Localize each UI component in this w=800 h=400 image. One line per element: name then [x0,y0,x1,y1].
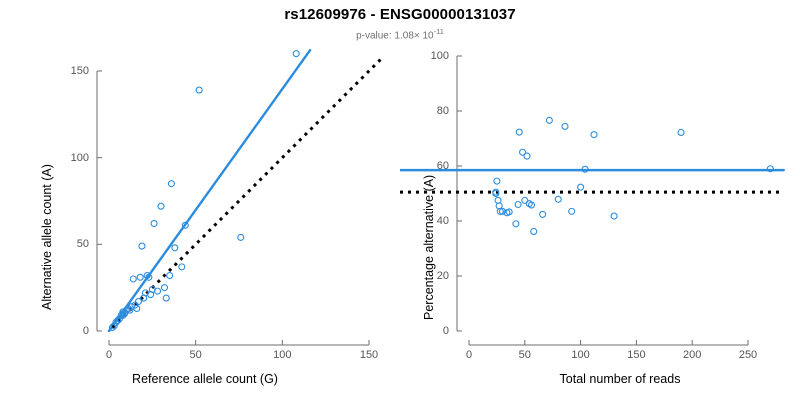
x-tick-label: 200 [683,349,701,361]
data-point [293,51,299,57]
data-point [179,264,185,270]
y-tick-label: 100 [0,152,89,164]
x-tick-label: 250 [739,349,757,361]
data-point [569,208,575,214]
right-plot-canvas [400,0,800,400]
y-tick-label: 20 [400,270,449,282]
x-tick-label: 150 [360,349,378,361]
data-point [516,129,522,135]
y-tick-label: 60 [400,160,449,172]
data-point [130,276,136,282]
y-tick-label: 50 [0,238,89,250]
data-point [155,288,161,294]
data-point [578,184,584,190]
x-tick-label: 0 [466,349,472,361]
y-tick-label: 0 [0,325,89,337]
data-point [591,132,597,138]
data-point [555,196,561,202]
data-point [168,181,174,187]
data-point [515,202,521,208]
y-tick-label: 150 [0,65,89,77]
x-axis-title-left: Reference allele count (G) [45,372,365,386]
data-point [513,221,519,227]
figure-root: rs12609976 - ENSG00000131037 p-value: 1.… [0,0,800,400]
data-point [678,129,684,135]
data-point [196,87,202,93]
y-tick-label: 0 [400,325,449,337]
data-point [151,221,157,227]
data-point [161,285,167,291]
data-point [238,234,244,240]
data-point [546,117,552,123]
y-axis-title-right: Percentage alternative (A) [422,175,436,320]
x-tick-label: 100 [273,349,291,361]
data-point [611,213,617,219]
data-point [524,153,530,159]
data-point [562,123,568,129]
x-tick-label: 100 [571,349,589,361]
x-tick-label: 150 [627,349,645,361]
regression-line [109,50,310,331]
panel-reference-vs-alternative: Reference allele count (G) Alternative a… [0,0,400,400]
panel-reads-vs-percentage: Total number of reads Percentage alterna… [400,0,800,400]
y-tick-label: 40 [400,215,449,227]
data-point [172,245,178,251]
x-tick-label: 50 [519,349,531,361]
x-tick-label: 50 [190,349,202,361]
data-point [531,228,537,234]
x-tick-label: 0 [106,349,112,361]
data-point [158,203,164,209]
y-tick-label: 80 [400,105,449,117]
data-point [137,274,143,280]
data-point [167,273,173,279]
data-point [540,211,546,217]
y-tick-label: 100 [400,50,449,62]
data-point [494,178,500,184]
data-point [163,295,169,301]
left-plot-canvas [0,0,400,400]
y-axis-title-left: Alternative allele count (A) [40,164,54,310]
x-axis-title-right: Total number of reads [460,372,780,386]
data-point [139,243,145,249]
